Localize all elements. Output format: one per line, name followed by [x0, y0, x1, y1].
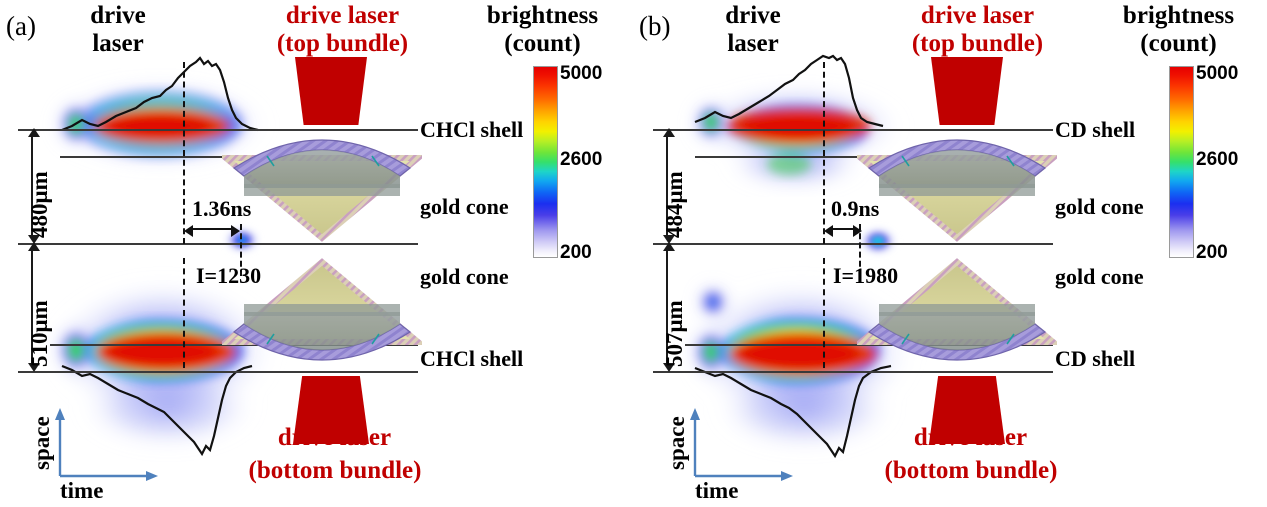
colorbar-tick-max: 5000 — [1196, 64, 1238, 84]
panel-b: (b) drive laser drive laser (top bundle)… — [633, 0, 1267, 507]
target-bottom — [857, 256, 1057, 374]
colorbar-title-line1: brightness — [455, 3, 630, 29]
top-cone-label: gold cone — [420, 196, 509, 219]
colorbar-title-line2: (count) — [1091, 31, 1266, 57]
drive-laser-beam-top — [295, 57, 367, 125]
top-shell-label: CHCl shell — [420, 119, 523, 142]
distance-label-upper: 484μm — [663, 171, 687, 238]
timing-dashed-line-lower — [823, 258, 825, 368]
drive-laser-label-line1: drive — [693, 3, 813, 29]
distance-label-lower: 507μm — [663, 300, 687, 367]
bottom-cone-label: gold cone — [420, 266, 509, 289]
top-bundle-label-line1: drive laser — [865, 3, 1090, 29]
distance-label-lower: 510μm — [28, 300, 52, 367]
top-cone-label: gold cone — [1055, 196, 1144, 219]
top-shell-label: CD shell — [1055, 119, 1135, 142]
figure-root: (a) drive laser drive laser (top bundle)… — [0, 0, 1267, 507]
colorbar — [1169, 66, 1194, 258]
panel-a: (a) drive laser drive laser (top bundle)… — [0, 0, 633, 507]
bottom-shell-label: CD shell — [1055, 348, 1135, 371]
target-bottom — [222, 256, 422, 374]
axis-indicator — [687, 404, 797, 486]
drive-laser-beam-top — [931, 57, 1003, 125]
colorbar-tick-max: 5000 — [560, 64, 602, 84]
target-top — [857, 126, 1057, 244]
colorbar-tick-mid: 2600 — [1196, 150, 1238, 170]
timing-dashed-line-main — [183, 62, 185, 244]
colorbar-tick-min: 200 — [1196, 243, 1228, 263]
axis-label-time: time — [60, 479, 103, 503]
colorbar-tick-min: 200 — [560, 243, 592, 263]
axis-label-space: space — [30, 416, 54, 470]
bottom-bundle-label-line1: drive laser — [222, 425, 447, 451]
top-bundle-label-line1: drive laser — [230, 3, 455, 29]
bottom-bundle-label-line2: (bottom bundle) — [851, 458, 1091, 484]
colorbar — [533, 66, 558, 258]
axis-label-space: space — [665, 416, 689, 470]
axis-label-time: time — [695, 479, 738, 503]
panel-tag: (b) — [639, 12, 670, 40]
timing-dashed-line-main — [823, 62, 825, 244]
panel-tag: (a) — [6, 12, 36, 40]
bottom-shell-label: CHCl shell — [420, 348, 523, 371]
distance-label-upper: 480μm — [28, 171, 52, 238]
colorbar-title-line1: brightness — [1091, 3, 1266, 29]
bottom-cone-label: gold cone — [1055, 266, 1144, 289]
bottom-bundle-label-line1: drive laser — [858, 425, 1083, 451]
axis-indicator — [52, 404, 162, 486]
bottom-bundle-label-line2: (bottom bundle) — [215, 458, 455, 484]
colorbar-tick-mid: 2600 — [560, 150, 602, 170]
timing-dashed-line-lower — [183, 258, 185, 368]
delay-arrow — [832, 228, 854, 230]
colorbar-title-line2: (count) — [455, 31, 630, 57]
target-top — [222, 126, 422, 244]
drive-laser-label-line1: drive — [58, 3, 178, 29]
